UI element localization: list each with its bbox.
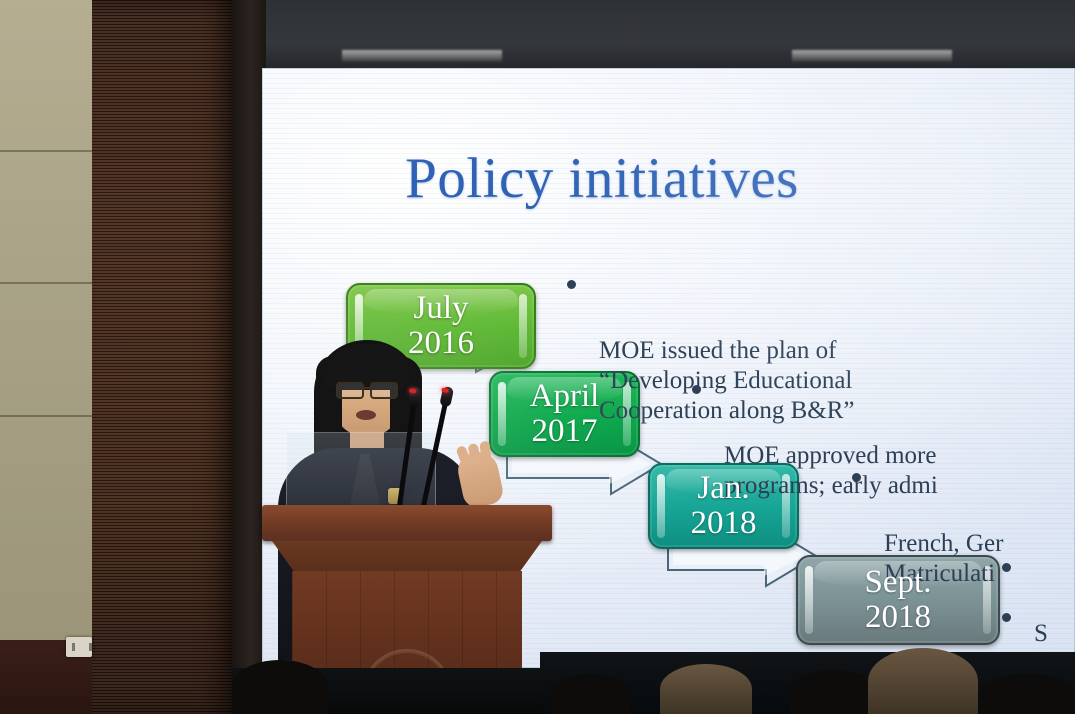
screenshot-stage: Policy initiatives July 2016 (0, 0, 1075, 714)
wood-panel-wall (92, 0, 240, 714)
timeline-box-jan-2018-line1: Jan. (697, 470, 749, 506)
audience-head (552, 674, 630, 714)
wall-above-screen (232, 0, 1075, 70)
bullet-dot-icon (852, 473, 861, 482)
bullet-dot-icon (1002, 563, 1011, 572)
beige-wall-panels (0, 0, 92, 640)
timeline-box-jan-2018-line2: 2018 (691, 505, 757, 541)
dark-pillar (232, 0, 266, 714)
timeline-box-april-2017-line1: April (530, 378, 600, 414)
timeline-box-april-2017-line2: 2017 (531, 413, 597, 449)
audience-head (790, 670, 876, 714)
audience-head (980, 674, 1075, 714)
bullet-dot-icon (1002, 613, 1011, 622)
audience-head (868, 648, 978, 714)
audience-head (232, 660, 328, 714)
timeline-box-sept-2018-line2: 2018 (865, 599, 931, 635)
slide-title: Policy initiatives (262, 150, 942, 207)
bullet-dot-icon (692, 385, 701, 394)
glasses-icon (336, 382, 398, 395)
audience-head (660, 664, 752, 714)
power-outlet (66, 637, 92, 657)
timeline-box-sept-2018-line1: Sept. (865, 564, 932, 600)
timeline-box-july-2016-line2: 2016 (408, 325, 474, 361)
timeline-box-july-2016-line1: July (413, 290, 468, 326)
bullet-dot-icon (567, 280, 576, 289)
